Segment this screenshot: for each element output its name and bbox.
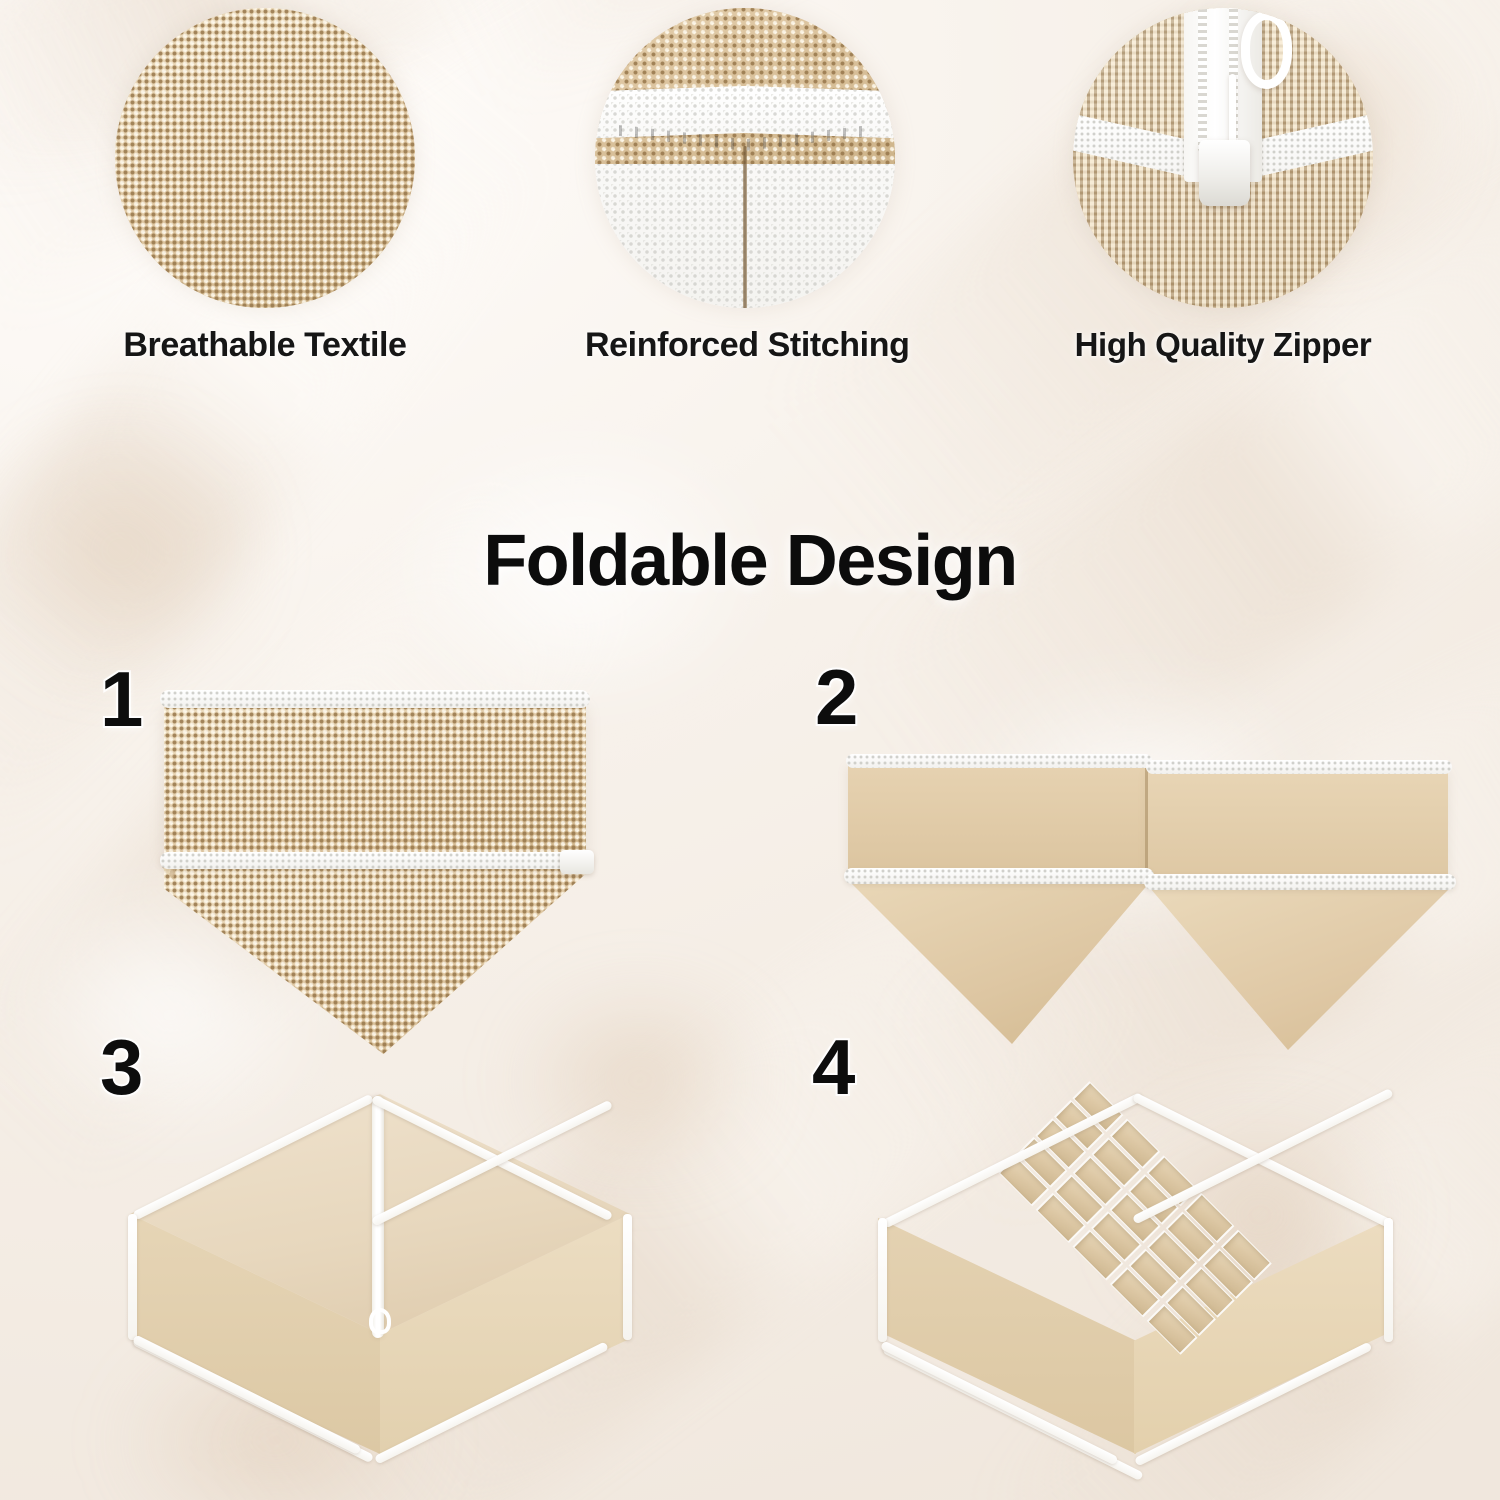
mesh-texture bbox=[115, 8, 415, 308]
box-edge-left-vertical bbox=[128, 1214, 137, 1340]
vertical-seam bbox=[743, 146, 747, 308]
middle-white-trim bbox=[160, 852, 592, 869]
compartment-box-body bbox=[878, 1090, 1392, 1454]
right-top-trim bbox=[1146, 760, 1452, 774]
right-bottom-trim bbox=[1144, 874, 1456, 890]
section-heading-foldable-design: Foldable Design bbox=[0, 520, 1500, 602]
feature-label-breathable-textile: Breathable Textile bbox=[105, 326, 425, 365]
zipper-slider bbox=[1199, 140, 1250, 206]
stitched-corner-icon bbox=[595, 8, 895, 308]
feature-reinforced-stitching: Reinforced Stitching bbox=[585, 8, 905, 365]
right-triangle-flap bbox=[1150, 888, 1450, 1050]
right-band-panel bbox=[1148, 770, 1448, 878]
box-zipper-pull bbox=[369, 1308, 391, 1334]
feature-high-quality-zipper: High Quality Zipper bbox=[1063, 8, 1383, 364]
compartment-edge-right-vertical bbox=[1384, 1218, 1393, 1342]
zipper-teeth-left bbox=[1198, 8, 1207, 152]
box-edge-right-vertical bbox=[623, 1214, 632, 1340]
center-seam bbox=[1145, 766, 1148, 878]
top-white-trim bbox=[160, 690, 590, 708]
step-3-assembled-box-image bbox=[120, 1090, 640, 1460]
left-bottom-trim bbox=[844, 868, 1154, 884]
folded-triangle-flap bbox=[164, 866, 586, 1054]
folded-band-panel bbox=[164, 704, 586, 856]
feature-label-reinforced-stitching: Reinforced Stitching bbox=[585, 326, 905, 365]
feature-label-high-quality-zipper: High Quality Zipper bbox=[1063, 326, 1383, 364]
compartment-edge-left-vertical bbox=[878, 1218, 887, 1342]
zipper-pull-ring bbox=[1241, 11, 1292, 89]
step-1-folded-flat-image bbox=[150, 690, 600, 1060]
step-number-2: 2 bbox=[815, 658, 858, 736]
feature-breathable-textile: Breathable Textile bbox=[105, 8, 425, 365]
zipper-pull-icon bbox=[1073, 8, 1373, 308]
step-number-1: 1 bbox=[100, 660, 143, 738]
left-triangle-flap bbox=[850, 882, 1150, 1044]
mesh-fabric-closeup-icon bbox=[115, 8, 415, 308]
step-4-divided-compartments-image bbox=[870, 1090, 1400, 1460]
zipper-end-stop bbox=[560, 850, 594, 874]
left-top-trim bbox=[846, 754, 1152, 768]
step-2-unfolded-panels-image bbox=[838, 752, 1458, 1052]
left-band-panel bbox=[848, 764, 1148, 872]
